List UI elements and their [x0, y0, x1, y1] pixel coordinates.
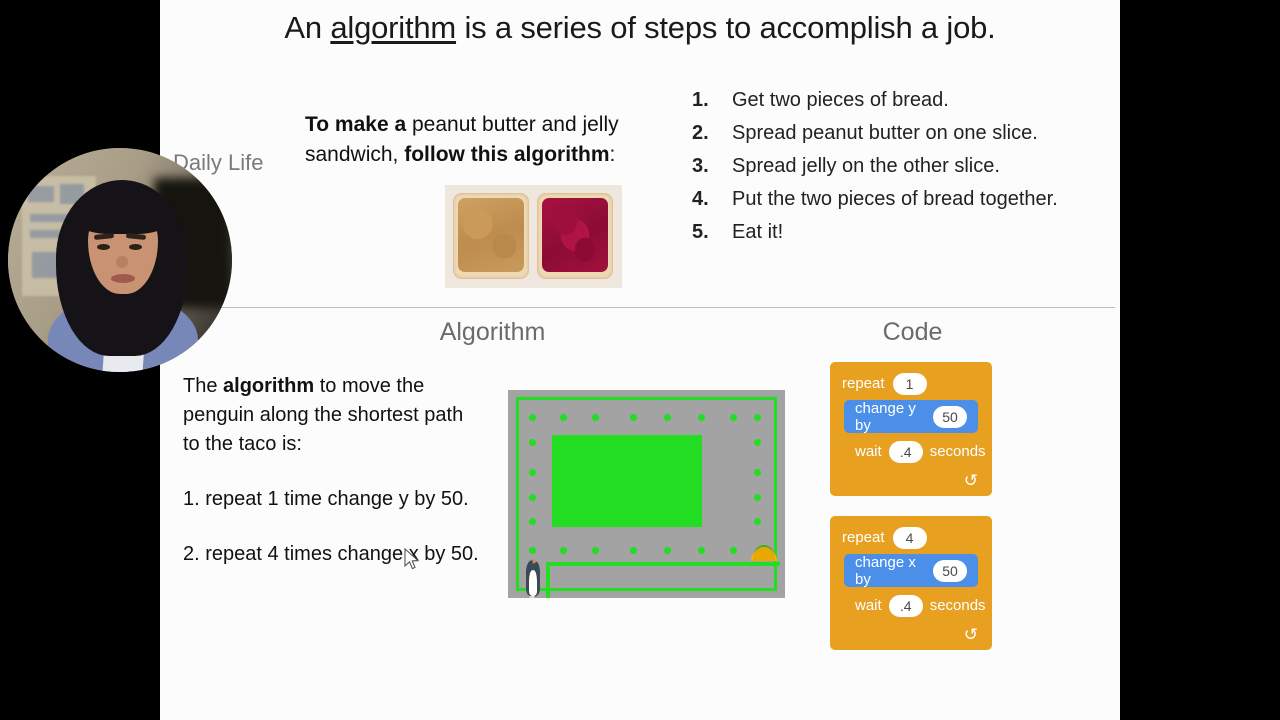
step-number: 5.: [692, 216, 732, 249]
heading-code: Code: [800, 318, 1025, 347]
step-text: Spread jelly on the other slice.: [732, 150, 1122, 183]
repeat-count-input[interactable]: 1: [893, 373, 927, 395]
list-item: 1. Get two pieces of bread.: [692, 84, 1122, 117]
step-number: 3.: [692, 150, 732, 183]
screen: An algorithm is a series of steps to acc…: [0, 0, 1280, 720]
path-dot: [698, 547, 705, 554]
scratch-code-panel: repeat 1 change y by 50 wait .4 seconds: [830, 362, 1005, 652]
intro-sentence: To make a peanut butter and jelly sandwi…: [305, 110, 675, 170]
horizontal-divider: [160, 307, 1115, 308]
change-y-value-input[interactable]: 50: [933, 406, 967, 428]
repeat-count-input[interactable]: 4: [893, 527, 927, 549]
path-dot: [529, 518, 536, 525]
presenter-eye-left: [97, 244, 110, 250]
wait-label: wait: [855, 443, 882, 460]
path-dot: [560, 547, 567, 554]
page-title: An algorithm is a series of steps to acc…: [160, 10, 1120, 46]
presenter-eye-right: [129, 244, 142, 250]
path-dot: [529, 494, 536, 501]
repeat-label: repeat: [842, 529, 885, 546]
path-dot: [630, 414, 637, 421]
repeat-block-footer: ↺: [830, 624, 992, 650]
algorithm-step-2: 2. repeat 4 times change x by 50.: [183, 540, 483, 569]
path-dot: [630, 547, 637, 554]
title-prefix: An: [284, 10, 330, 45]
change-x-value-input[interactable]: 50: [933, 560, 967, 582]
wait-value-input[interactable]: .4: [889, 595, 923, 617]
path-dot: [754, 469, 761, 476]
repeat-block-header[interactable]: repeat 1: [830, 367, 992, 400]
slide-canvas: An algorithm is a series of steps to acc…: [160, 0, 1120, 720]
presenter-mouth: [111, 274, 135, 283]
algo-keyword: algorithm: [223, 375, 314, 397]
path-dot: [529, 469, 536, 476]
script-repeat-4-change-x[interactable]: repeat 4 change x by 50 wait .4 seconds: [830, 516, 992, 650]
intro-bold-2: follow this algorithm: [404, 143, 609, 166]
wait-block[interactable]: wait .4 seconds: [844, 589, 992, 622]
loop-arrow-icon: ↺: [964, 472, 978, 489]
penguin-sprite: [520, 558, 546, 598]
path-dot: [664, 414, 671, 421]
step-text: Eat it!: [732, 216, 1122, 249]
wait-label: wait: [855, 597, 882, 614]
list-item: 2. Spread peanut butter on one slice.: [692, 117, 1122, 150]
algorithm-description: The algorithm to move the penguin along …: [183, 372, 483, 569]
presenter-nose: [116, 256, 128, 268]
step-number: 1.: [692, 84, 732, 117]
path-dot: [754, 414, 761, 421]
path-dot: [560, 414, 567, 421]
recipe-step-list: 1. Get two pieces of bread. 2. Spread pe…: [692, 84, 1122, 249]
change-y-label: change y by: [855, 400, 926, 434]
wait-units-label: seconds: [930, 597, 986, 614]
path-dot: [592, 547, 599, 554]
peanut-butter-slice: [453, 193, 529, 279]
change-y-block[interactable]: change y by 50: [844, 400, 978, 433]
penguin-taco-maze: [508, 390, 785, 598]
maze-bottom-connector: [546, 562, 550, 598]
maze-center-block: [552, 435, 702, 527]
path-dot: [529, 414, 536, 421]
loop-arrow-icon: ↺: [964, 626, 978, 643]
path-dot: [730, 414, 737, 421]
jelly-spread: [542, 198, 608, 272]
repeat-block-header[interactable]: repeat 4: [830, 521, 992, 554]
path-dot: [754, 518, 761, 525]
title-suffix: is a series of steps to accomplish a job…: [456, 10, 996, 45]
peanut-butter-spread: [458, 198, 524, 272]
path-dot: [529, 547, 536, 554]
wait-value-input[interactable]: .4: [889, 441, 923, 463]
path-dot: [592, 414, 599, 421]
title-keyword: algorithm: [330, 10, 456, 45]
change-x-label: change x by: [855, 554, 926, 588]
path-dot: [754, 494, 761, 501]
presenter-video-bubble[interactable]: [8, 148, 232, 372]
step-text: Spread peanut butter on one slice.: [732, 117, 1122, 150]
jelly-slice: [537, 193, 613, 279]
repeat-label: repeat: [842, 375, 885, 392]
algorithm-intro-paragraph: The algorithm to move the penguin along …: [183, 372, 483, 459]
algorithm-step-1: 1. repeat 1 time change y by 50.: [183, 485, 483, 514]
wait-units-label: seconds: [930, 443, 986, 460]
maze-bottom-path: [548, 562, 780, 566]
path-dot: [754, 439, 761, 446]
step-number: 4.: [692, 183, 732, 216]
heading-algorithm: Algorithm: [380, 318, 605, 347]
list-item: 3. Spread jelly on the other slice.: [692, 150, 1122, 183]
list-item: 5. Eat it!: [692, 216, 1122, 249]
path-dot: [730, 547, 737, 554]
step-text: Get two pieces of bread.: [732, 84, 1122, 117]
intro-bold-1: To make a: [305, 113, 406, 136]
list-item: 4. Put the two pieces of bread together.: [692, 183, 1122, 216]
repeat-block-body: change x by 50 wait .4 seconds: [830, 554, 992, 622]
path-dot: [698, 414, 705, 421]
step-text: Put the two pieces of bread together.: [732, 183, 1122, 216]
taco-sprite: [750, 542, 778, 562]
mouse-cursor-icon: [404, 548, 420, 572]
algo-line-a: The: [183, 375, 223, 397]
script-repeat-1-change-y[interactable]: repeat 1 change y by 50 wait .4 seconds: [830, 362, 992, 496]
step-number: 2.: [692, 117, 732, 150]
path-dot: [664, 547, 671, 554]
change-x-block[interactable]: change x by 50: [844, 554, 978, 587]
wait-block[interactable]: wait .4 seconds: [844, 435, 992, 468]
repeat-block-footer: ↺: [830, 470, 992, 496]
sandwich-photo: [445, 185, 622, 288]
intro-plain-2: :: [610, 143, 616, 166]
repeat-block-body: change y by 50 wait .4 seconds: [830, 400, 992, 468]
path-dot: [529, 439, 536, 446]
